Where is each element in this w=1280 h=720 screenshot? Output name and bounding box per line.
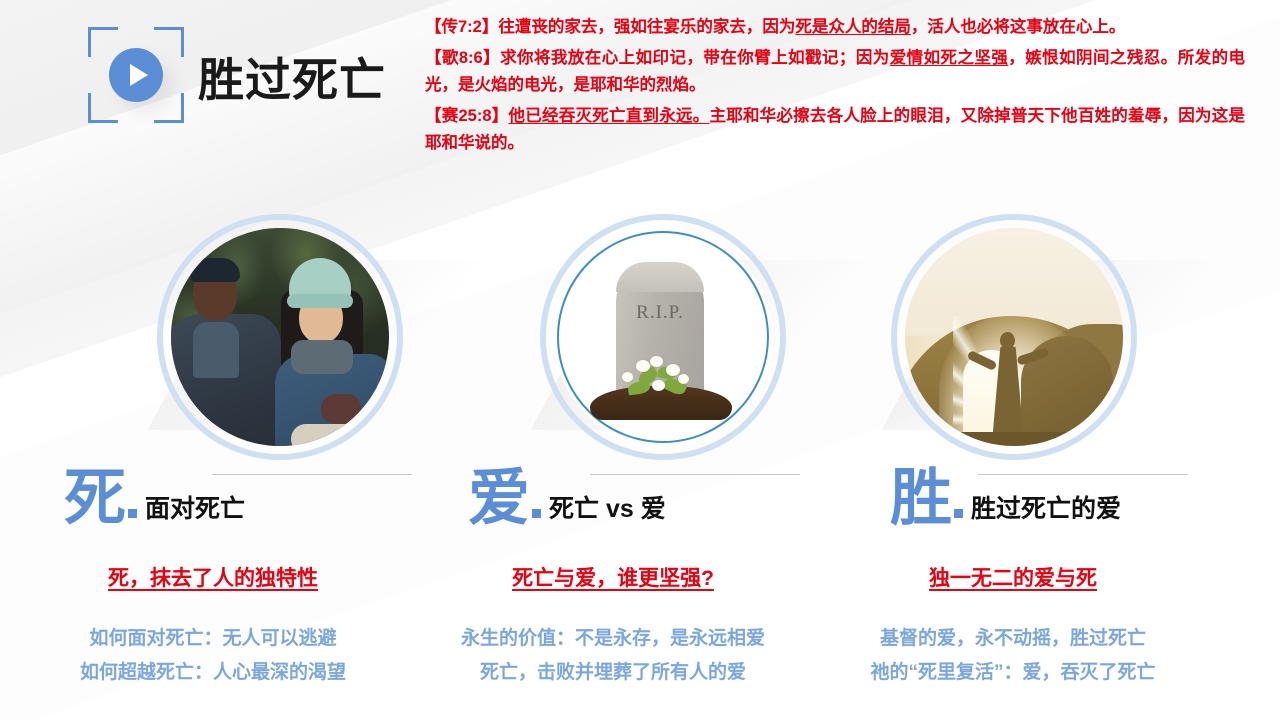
- column-red-heading: 死亡与爱，谁更坚强?: [400, 562, 826, 592]
- scripture-text-underlined: 他已经吞灭死亡直到永远。: [509, 107, 710, 125]
- bullet-item: 死亡，击败并埋葬了所有人的爱: [400, 656, 826, 690]
- scripture-verse: 【赛25:8】他已经吞灭死亡直到永远。主耶和华必擦去各人脸上的眼泪，又除掉普天下…: [425, 103, 1245, 157]
- scripture-text-after: ，活人也必将这事放在心上。: [911, 18, 1126, 36]
- column-big-char: 死: [64, 470, 126, 527]
- column-subtitle: 胜过死亡的爱: [971, 497, 1121, 527]
- column-red-heading: 独一无二的爱与死: [800, 562, 1226, 592]
- scripture-text-before: 往遭丧的家去，强如往宴乐的家去，因为: [498, 18, 795, 36]
- square-dot-icon: [532, 509, 541, 518]
- scripture-reference: 【传7:2】: [425, 18, 498, 36]
- bullet-item: 祂的“死里复活”：爱，吞灭了死亡: [800, 656, 1226, 690]
- column-victory: 胜 胜过死亡的爱 独一无二的爱与死 基督的爱，永不动摇，胜过死亡 祂的“死里复活…: [800, 462, 1226, 720]
- circle-image-row: R.I.P.: [0, 214, 1280, 464]
- square-dot-icon: [954, 509, 963, 518]
- scripture-text-underlined: 死是众人的结局: [795, 18, 911, 36]
- scripture-verse: 【歌8:6】求你将我放在心上如印记，带在你臂上如戳记；因为爱情如死之坚强，嫉恨如…: [425, 45, 1245, 99]
- play-triangle-icon: [130, 64, 148, 86]
- column-bullets: 如何面对死亡：无人可以逃避 如何超越死亡：人心最深的渴望: [0, 622, 426, 690]
- page-title: 胜过死亡: [198, 44, 386, 110]
- column-red-heading: 死，抹去了人的独特性: [0, 562, 426, 592]
- column-big-char: 爱: [468, 470, 530, 527]
- rip-tombstone-photo: R.I.P.: [554, 228, 772, 446]
- content-columns: 死 面对死亡 死，抹去了人的独特性 如何面对死亡：无人可以逃避 如何超越死亡：人…: [0, 462, 1280, 720]
- bullet-item: 如何面对死亡：无人可以逃避: [0, 622, 426, 656]
- couple-outdoors-photo: [171, 228, 389, 446]
- bullet-item: 基督的爱，永不动摇，胜过死亡: [800, 622, 1226, 656]
- scripture-block: 【传7:2】往遭丧的家去，强如往宴乐的家去，因为死是众人的结局，活人也必将这事放…: [425, 14, 1245, 161]
- resurrection-empty-tomb-photo: [905, 228, 1123, 446]
- column-big-char: 胜: [890, 470, 952, 527]
- tombstone-inscription: R.I.P.: [616, 302, 704, 324]
- column-heading: 爱 死亡 vs 爱: [468, 470, 666, 527]
- scripture-reference: 【赛25:8】: [425, 107, 509, 125]
- column-love: 爱 死亡 vs 爱 死亡与爱，谁更坚强? 永生的价值：不是永存，是永远相爱 死亡…: [400, 462, 826, 720]
- square-dot-icon: [128, 509, 137, 518]
- column-heading: 死 面对死亡: [64, 470, 245, 527]
- bullet-item: 永生的价值：不是永存，是永远相爱: [400, 622, 826, 656]
- column-death: 死 面对死亡 死，抹去了人的独特性 如何面对死亡：无人可以逃避 如何超越死亡：人…: [0, 462, 426, 720]
- circle-image-resurrection: [891, 214, 1137, 460]
- circle-image-tombstone: R.I.P.: [540, 214, 786, 460]
- play-circle-icon: [109, 48, 163, 102]
- circle-image-couple-outdoors: [157, 214, 403, 460]
- column-bullets: 永生的价值：不是永存，是永远相爱 死亡，击败并埋葬了所有人的爱: [400, 622, 826, 690]
- column-bullets: 基督的爱，永不动摇，胜过死亡 祂的“死里复活”：爱，吞灭了死亡: [800, 622, 1226, 690]
- scripture-text-before: 求你将我放在心上如印记，带在你臂上如戳记；因为: [500, 49, 890, 67]
- scripture-reference: 【歌8:6】: [425, 49, 500, 67]
- slide-canvas: 胜过死亡 【传7:2】往遭丧的家去，强如往宴乐的家去，因为死是众人的结局，活人也…: [0, 0, 1280, 720]
- column-subtitle: 面对死亡: [145, 497, 245, 527]
- scripture-text-underlined: 爱情如死之坚强: [890, 49, 1009, 67]
- play-button-icon: [88, 27, 184, 123]
- column-heading: 胜 胜过死亡的爱: [890, 470, 1121, 527]
- scripture-verse: 【传7:2】往遭丧的家去，强如往宴乐的家去，因为死是众人的结局，活人也必将这事放…: [425, 14, 1245, 41]
- slide-header: 胜过死亡 【传7:2】往遭丧的家去，强如往宴乐的家去，因为死是众人的结局，活人也…: [0, 0, 1280, 195]
- column-subtitle: 死亡 vs 爱: [549, 497, 666, 527]
- bullet-item: 如何超越死亡：人心最深的渴望: [0, 656, 426, 690]
